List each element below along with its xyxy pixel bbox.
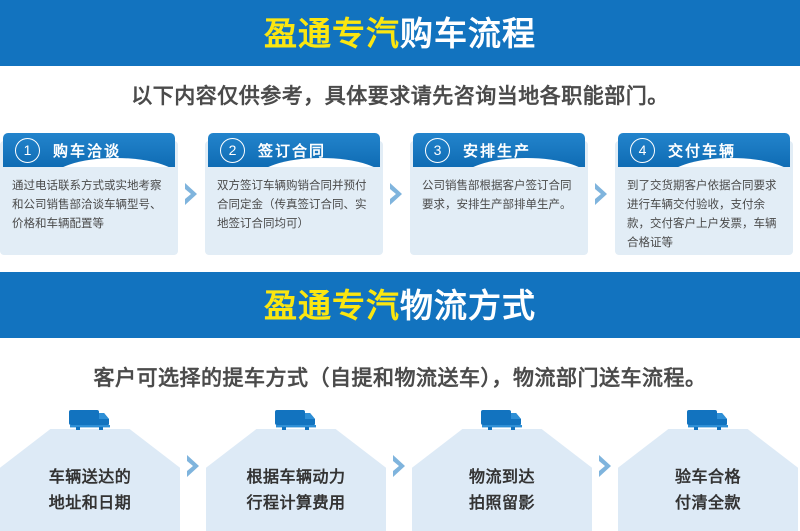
step-card-1-number: 1: [15, 138, 40, 163]
chevron-right-icon: [183, 182, 200, 206]
logistics-section-banner: 盈通专汽物流方式: [0, 272, 800, 338]
step-card-2-number: 2: [220, 138, 245, 163]
step-card-2-text: 双方签订车辆购销合同并预付合同定金（传真签订合同、实地签订合同均可）: [217, 177, 372, 234]
logistics-stage-1-line1: 车辆送达的: [0, 465, 180, 491]
step-card-3[interactable]: 3 安排生产 公司销售部根据客户签订合同要求，安排生产部排单生产。: [410, 133, 588, 255]
step-card-3-header: 3 安排生产: [413, 133, 585, 167]
truck-icon: [686, 408, 730, 432]
logistics-banner-title: 盈通专汽物流方式: [264, 289, 536, 322]
logistics-arrow-3: [592, 408, 618, 531]
chevron-right-icon: [593, 182, 610, 206]
chevron-right-icon: [391, 454, 408, 478]
purchase-banner-accent: 盈通专汽: [264, 15, 400, 52]
step-card-4-header: 4 交付车辆: [618, 133, 790, 167]
logistics-stage-3-line2: 拍照留影: [412, 491, 592, 517]
step-card-4-title: 交付车辆: [668, 140, 736, 161]
step-card-4-number: 4: [630, 138, 655, 163]
truck-icon: [68, 408, 112, 432]
step-arrow-1: [178, 133, 205, 255]
logistics-stage-4-line1: 验车合格: [618, 465, 798, 491]
logistics-stages-row: 车辆送达的 地址和日期: [0, 408, 800, 531]
logistics-banner-main: 物流方式: [400, 287, 536, 324]
logistics-stage-2[interactable]: 根据车辆动力 行程计算费用: [206, 408, 386, 531]
logistics-stage-3[interactable]: 物流到达 拍照留影: [412, 408, 592, 531]
step-card-2-title: 签订合同: [258, 140, 326, 161]
logistics-stage-1[interactable]: 车辆送达的 地址和日期: [0, 408, 180, 531]
logistics-subtitle: 客户可选择的提车方式（自提和物流送车），物流部门送车流程。: [0, 362, 800, 392]
logistics-stage-4-label: 验车合格 付清全款: [618, 465, 798, 517]
purchase-subtitle: 以下内容仅供参考，具体要求请先咨询当地各职能部门。: [0, 80, 800, 110]
chevron-right-icon: [388, 182, 405, 206]
step-card-3-text: 公司销售部根据客户签订合同要求，安排生产部排单生产。: [422, 177, 577, 215]
step-card-1-header: 1 购车洽谈: [3, 133, 175, 167]
logistics-stage-2-line2: 行程计算费用: [206, 491, 386, 517]
logistics-stage-1-line2: 地址和日期: [0, 491, 180, 517]
logistics-stage-2-label: 根据车辆动力 行程计算费用: [206, 465, 386, 517]
logistics-arrow-1: [180, 408, 206, 531]
step-card-1-text: 通过电话联系方式或实地考察和公司销售部洽谈车辆型号、价格和车辆配置等: [12, 177, 167, 234]
logistics-stage-1-label: 车辆送达的 地址和日期: [0, 465, 180, 517]
purchase-steps-row: 1 购车洽谈 通过电话联系方式或实地考察和公司销售部洽谈车辆型号、价格和车辆配置…: [0, 133, 800, 258]
step-card-3-number: 3: [425, 138, 450, 163]
step-arrow-2: [383, 133, 410, 255]
step-card-2-header: 2 签订合同: [208, 133, 380, 167]
logistics-stage-2-line1: 根据车辆动力: [206, 465, 386, 491]
step-card-4[interactable]: 4 交付车辆 到了交货期客户依据合同要求进行车辆交付验收，支付余款，交付客户上户…: [615, 133, 793, 255]
truck-icon: [480, 408, 524, 432]
step-card-4-text: 到了交货期客户依据合同要求进行车辆交付验收，支付余款，交付客户上户发票，车辆合格…: [627, 177, 782, 253]
step-card-1-title: 购车洽谈: [53, 140, 121, 161]
logistics-stage-4[interactable]: 验车合格 付清全款: [618, 408, 798, 531]
section-divider: [0, 258, 800, 272]
purchase-banner-title: 盈通专汽购车流程: [264, 17, 536, 50]
logistics-stage-4-line2: 付清全款: [618, 491, 798, 517]
logistics-stage-3-label: 物流到达 拍照留影: [412, 465, 592, 517]
logistics-stage-3-line1: 物流到达: [412, 465, 592, 491]
step-card-3-title: 安排生产: [463, 140, 531, 161]
truck-icon: [274, 408, 318, 432]
purchase-banner-main: 购车流程: [400, 15, 536, 52]
logistics-banner-accent: 盈通专汽: [264, 287, 400, 324]
chevron-right-icon: [597, 454, 614, 478]
step-card-2[interactable]: 2 签订合同 双方签订车辆购销合同并预付合同定金（传真签订合同、实地签订合同均可…: [205, 133, 383, 255]
chevron-right-icon: [185, 454, 202, 478]
logistics-arrow-2: [386, 408, 412, 531]
step-arrow-3: [588, 133, 615, 255]
step-card-1[interactable]: 1 购车洽谈 通过电话联系方式或实地考察和公司销售部洽谈车辆型号、价格和车辆配置…: [0, 133, 178, 255]
purchase-section-banner: 盈通专汽购车流程: [0, 0, 800, 66]
purchase-logistics-infographic: 盈通专汽购车流程 以下内容仅供参考，具体要求请先咨询当地各职能部门。 1 购车洽…: [0, 0, 800, 531]
